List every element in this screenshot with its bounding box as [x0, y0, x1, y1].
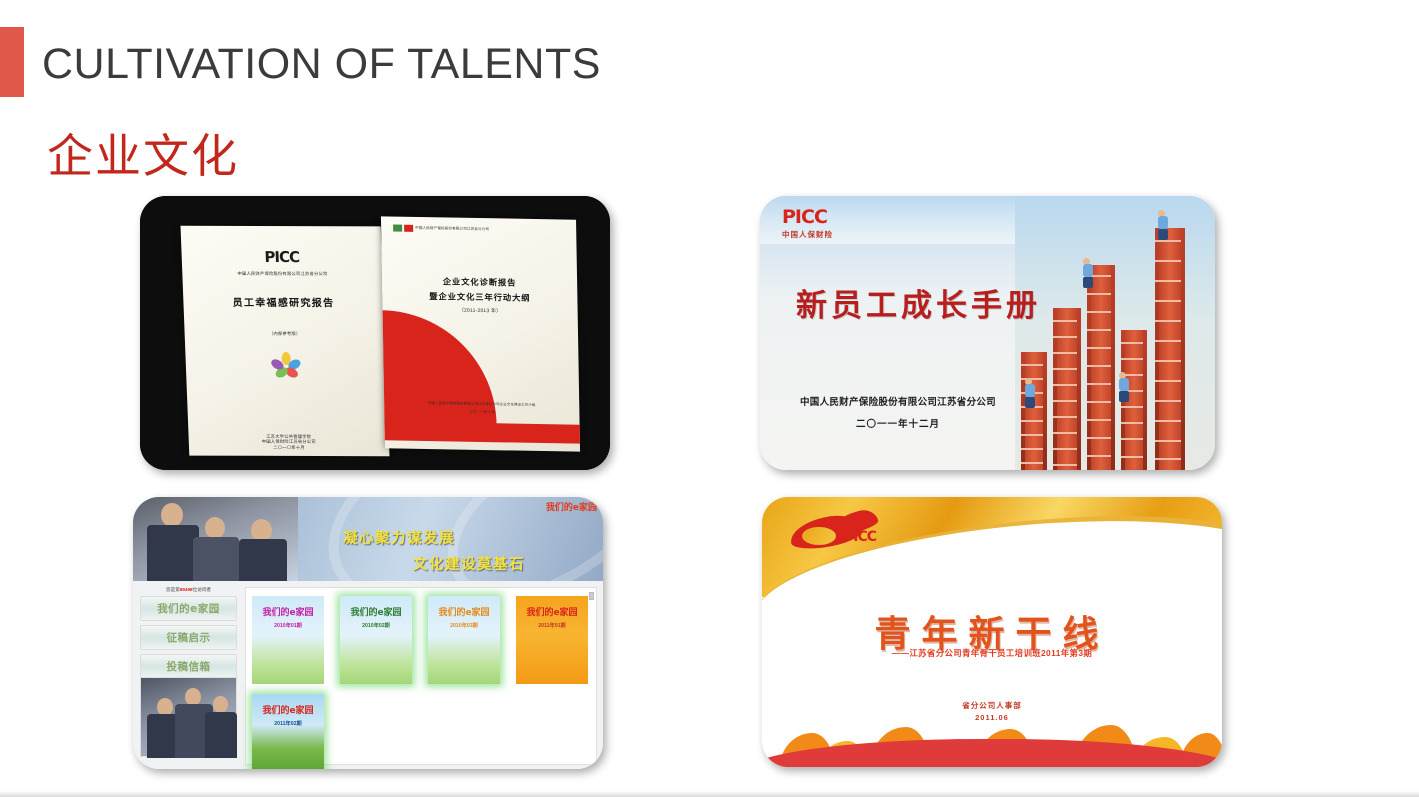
picc-logo-text: PICC	[181, 248, 382, 267]
magazine-title: 我们的e家园	[340, 605, 412, 618]
booklet-footer-3: 二〇一〇年十月	[189, 444, 389, 450]
magazine-title: 我们的e家园	[252, 605, 324, 618]
magazine-cover[interactable]: 我们的e家园2011年02期	[252, 694, 324, 769]
handbook-title: 新员工成长手册	[796, 280, 1041, 325]
handbook-footer-company: 中国人民财产保险股份有限公司江苏省分公司	[784, 394, 1012, 408]
booklet-culture-diagnosis: 中国人民财产保险股份有限公司江苏省分公司 企业文化诊断报告 暨企业文化三年行动大…	[381, 216, 580, 451]
handbook-ladder-illustration	[1015, 196, 1215, 470]
magazine-cover[interactable]: 我们的e家园2010年03期	[428, 596, 500, 684]
magazine-issue-date: 2010年01期	[252, 622, 324, 629]
magazine-title: 我们的e家园	[428, 605, 500, 618]
page-subtitle: 企业文化	[47, 120, 239, 186]
ladder-5	[1155, 228, 1185, 470]
magazine-title: 我们的e家园	[252, 703, 324, 716]
visits-count: 89498	[180, 587, 193, 592]
title-accent-bar	[0, 27, 24, 97]
portal-corner-label: 我们的e家园	[546, 500, 597, 513]
ladder-2	[1053, 308, 1081, 470]
portal-visit-counter: 您是第89498位访问者	[140, 587, 237, 593]
photo-culture-web-portal[interactable]: 凝心聚力谋发展 文化建设莫基石 我们的e家园 您是第89498位访问者 我们的e…	[133, 497, 603, 769]
phoenix-flame-icon: PICC	[790, 513, 900, 555]
handbook-footer-date: 二〇一一年十二月	[784, 416, 1012, 430]
magazine-cover[interactable]: 我们的e家园2010年01期	[252, 596, 324, 684]
picc-logo-chinese: 中国人保财险	[782, 229, 833, 240]
handbook-footer: 中国人民财产保险股份有限公司江苏省分公司 二〇一一年十二月	[784, 394, 1012, 430]
red-footer-bar-graphic	[385, 421, 580, 443]
booklet-header-strip: 中国人民财产保险股份有限公司江苏省分公司	[381, 216, 576, 234]
portal-menu-item-submissions[interactable]: 征稿启示	[140, 625, 237, 650]
booklet-note: （内部参考版）	[185, 330, 385, 336]
portal-body: 您是第89498位访问者 我们的e家园 征稿启示 投稿信箱 我们的e家园2010…	[133, 581, 603, 769]
climber-seated-figure	[1083, 258, 1093, 288]
magazine-cover[interactable]: 我们的e家园2011年01期	[516, 596, 588, 684]
ladder-1	[1021, 352, 1047, 470]
portal-banner: 凝心聚力谋发展 文化建设莫基石 我们的e家园	[133, 497, 603, 581]
magazine-issue-date: 2010年02期	[340, 622, 412, 629]
picc-logo-text: PICC	[844, 529, 876, 545]
booklet-title-line2: 暨企业文化三年行动大纲	[382, 291, 577, 305]
magazine-issue-date: 2010年03期	[428, 622, 500, 629]
slide-bottom-strip	[0, 791, 1419, 797]
handbook-logo-block: PICC 中国人保财险	[782, 206, 833, 240]
climber-lower-right-figure	[1119, 372, 1129, 402]
page-title: CULTIVATION OF TALENTS	[42, 40, 601, 89]
portal-menu-item-mailbox[interactable]: 投稿信箱	[140, 654, 237, 679]
photo-report-booklets[interactable]: PICC 中国人民财产保险股份有限公司江苏省分公司 员工幸福感研究报告 （内部参…	[140, 196, 610, 470]
banner-people-photo	[133, 497, 298, 581]
flower-logo-icon	[271, 352, 300, 378]
booklet-footer-1: 中国人民财产保险股份有限公司江苏省分公司企业文化建设工作小组	[384, 401, 579, 409]
magazine-issue-date: 2011年02期	[252, 720, 324, 727]
visits-prefix: 您是第	[166, 587, 180, 592]
portal-sidebar: 您是第89498位访问者 我们的e家园 征稿启示 投稿信箱	[140, 587, 237, 683]
booklet-title: 员工幸福感研究报告	[183, 298, 384, 311]
booklet-company-line: 中国人民财产保险股份有限公司江苏省分公司	[182, 270, 382, 276]
picc-logo-text: PICC	[782, 206, 833, 228]
magazine-cover[interactable]: 我们的e家园2010年02期	[340, 596, 412, 684]
youth-logo-block: PICC	[790, 513, 900, 555]
portal-sidebar-photo	[140, 677, 237, 757]
bottom-flame-decoration	[762, 705, 1222, 767]
green-square-icon	[393, 225, 402, 232]
portal-magazine-grid: 我们的e家园2010年01期我们的e家园2010年02期我们的e家园2010年0…	[245, 587, 597, 765]
booklet-header-text: 中国人民财产保险股份有限公司江苏省分公司	[415, 226, 489, 232]
magazine-issue-date: 2011年01期	[516, 622, 588, 629]
booklet-employee-happiness: PICC 中国人民财产保险股份有限公司江苏省分公司 员工幸福感研究报告 （内部参…	[180, 226, 389, 457]
visits-suffix: 位访问者	[193, 587, 211, 592]
scrollbar-thumb[interactable]	[589, 592, 594, 600]
photo-new-employee-handbook[interactable]: PICC 中国人保财险 新员工成长手册 中国人民财产保险股份有限公司江苏省分公司…	[760, 196, 1215, 470]
portal-banner-line2: 文化建设莫基石	[413, 553, 525, 574]
booklet-title-line1: 企业文化诊断报告	[382, 275, 577, 289]
slide-canvas: CULTIVATION OF TALENTS 企业文化 PICC 中国人民财产保…	[0, 0, 1419, 797]
portal-menu-item-home[interactable]: 我们的e家园	[140, 596, 237, 621]
climber-top-figure	[1158, 210, 1168, 240]
youth-subtitle: ——江苏省分公司青年骨干员工培训班2011年第3期	[762, 647, 1222, 659]
ladder-3	[1087, 265, 1115, 470]
photo-youth-new-line-cover[interactable]: PICC 青年新干线 ——江苏省分公司青年骨干员工培训班2011年第3期 省分公…	[762, 497, 1222, 767]
portal-banner-line1: 凝心聚力谋发展	[343, 527, 455, 548]
red-square-icon	[404, 225, 413, 232]
climber-lower-left-figure	[1025, 378, 1035, 408]
magazine-title: 我们的e家园	[516, 605, 588, 618]
